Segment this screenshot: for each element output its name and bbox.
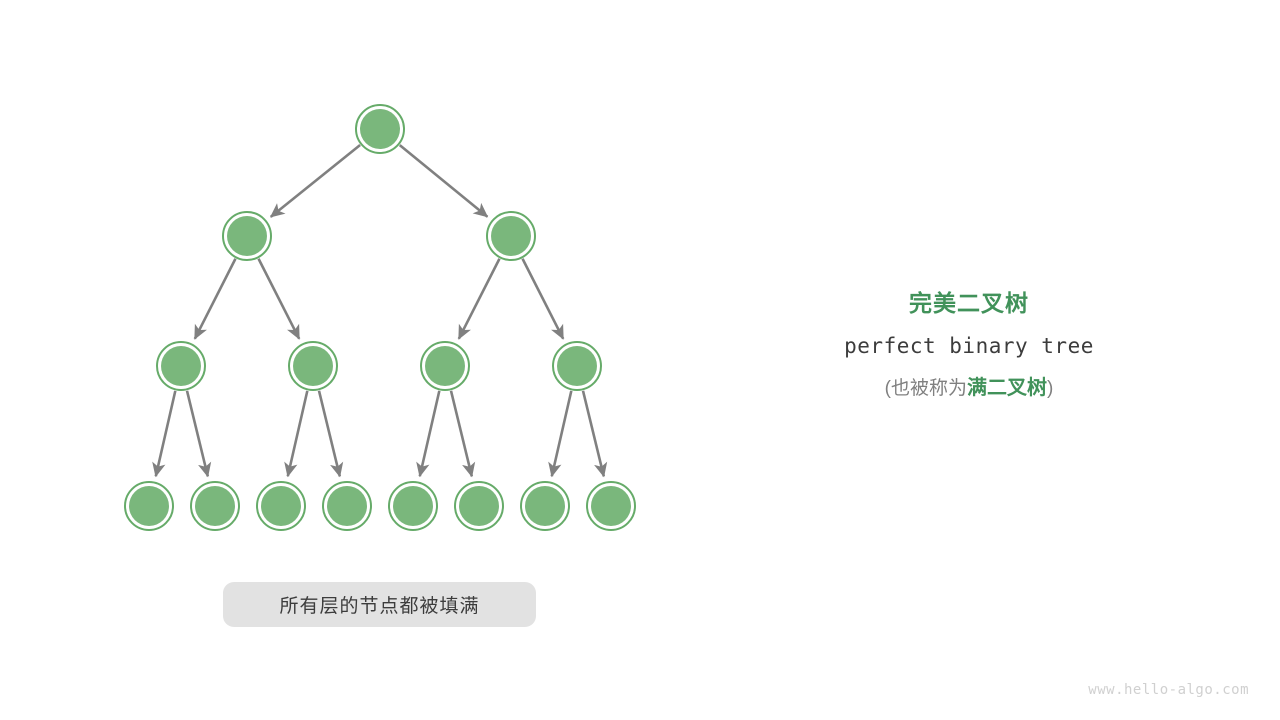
tree-node: [323, 482, 371, 530]
node-fill: [591, 486, 631, 526]
watermark: www.hello-algo.com: [1088, 682, 1249, 698]
node-fill: [195, 486, 235, 526]
node-fill: [459, 486, 499, 526]
tree-node: [421, 342, 469, 390]
tree-edge: [459, 259, 500, 339]
tree-edge: [523, 259, 564, 339]
legend-alias-prefix: (也被称为: [885, 378, 967, 399]
node-fill: [491, 216, 531, 256]
tree-node: [487, 212, 535, 260]
tree-edge: [552, 391, 572, 476]
tree-edge: [420, 391, 440, 476]
legend-title: 完美二叉树: [789, 288, 1149, 318]
tree-edge: [259, 259, 300, 339]
legend-block: 完美二叉树 perfect binary tree (也被称为满二叉树): [789, 288, 1149, 403]
tree-edge: [319, 391, 340, 477]
node-fill: [425, 346, 465, 386]
node-fill: [557, 346, 597, 386]
tree-edge: [400, 145, 488, 217]
tree-edge: [156, 391, 176, 476]
node-fill: [161, 346, 201, 386]
tree-node: [289, 342, 337, 390]
tree-node: [223, 212, 271, 260]
legend-subtitle: perfect binary tree: [789, 332, 1149, 360]
legend-alias-suffix: ): [1047, 378, 1053, 399]
tree-edge: [583, 391, 604, 477]
node-fill: [293, 346, 333, 386]
tree-edge: [271, 145, 360, 217]
node-fill: [227, 216, 267, 256]
caption-pill: 所有层的节点都被填满: [223, 582, 536, 627]
tree-edge: [451, 391, 472, 477]
node-fill: [261, 486, 301, 526]
tree-node: [125, 482, 173, 530]
tree-node: [257, 482, 305, 530]
tree-node: [455, 482, 503, 530]
node-fill: [129, 486, 169, 526]
tree-node: [157, 342, 205, 390]
node-fill: [393, 486, 433, 526]
legend-alias: (也被称为满二叉树): [789, 374, 1149, 403]
tree-diagram: 完美二叉树 perfect binary tree (也被称为满二叉树) 所有层…: [0, 0, 1280, 720]
tree-edge: [187, 391, 208, 477]
tree-node: [356, 105, 404, 153]
caption-text: 所有层的节点都被填满: [279, 591, 479, 618]
node-fill: [360, 109, 400, 149]
node-fill: [327, 486, 367, 526]
nodes-layer: [125, 105, 635, 530]
tree-edge: [195, 259, 236, 339]
tree-edge: [288, 391, 308, 476]
node-fill: [525, 486, 565, 526]
edges-layer: [156, 145, 604, 476]
tree-node: [389, 482, 437, 530]
tree-node: [191, 482, 239, 530]
tree-node: [587, 482, 635, 530]
tree-node: [553, 342, 601, 390]
tree-node: [521, 482, 569, 530]
legend-alias-strong: 满二叉树: [967, 377, 1047, 399]
